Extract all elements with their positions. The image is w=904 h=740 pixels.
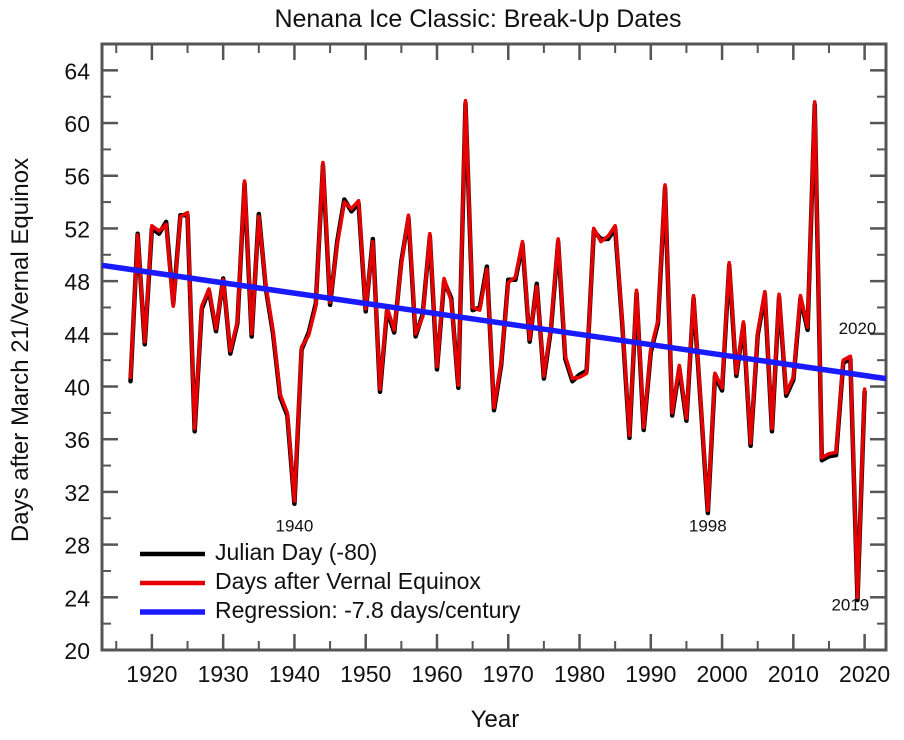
page-title: Nenana Ice Classic: Break-Up Dates xyxy=(274,5,681,33)
x-tick-label: 1930 xyxy=(198,661,249,687)
x-axis-title: Year xyxy=(471,706,520,733)
legend-label-days-after-vernal-equinox: Days after Vernal Equinox xyxy=(215,568,481,594)
x-tick-label: 1960 xyxy=(411,661,462,687)
y-tick-label: 52 xyxy=(64,216,90,242)
y-axis-title: Days after March 21/Vernal Equinox xyxy=(7,158,34,542)
x-tick-label: 1970 xyxy=(483,661,534,687)
x-tick-label: 2020 xyxy=(839,661,890,687)
y-tick-label: 44 xyxy=(64,322,90,348)
y-tick-label: 60 xyxy=(64,111,90,137)
annotation-label-2020: 2020 xyxy=(839,319,877,338)
chart-figure: Nenana Ice Classic: Break-Up Dates Days … xyxy=(0,0,904,740)
y-tick-label: 28 xyxy=(64,533,90,559)
nenana-ice-classic-line-chart: Nenana Ice Classic: Break-Up Dates Days … xyxy=(0,0,904,740)
legend-label-regression: Regression: -7.8 days/century xyxy=(215,597,521,623)
x-tick-label: 2000 xyxy=(696,661,747,687)
y-tick-label: 64 xyxy=(64,58,90,84)
annotation-label-1940: 1940 xyxy=(276,516,314,535)
y-tick-label: 56 xyxy=(64,164,90,190)
y-tick-label: 20 xyxy=(64,638,90,664)
x-tick-label: 1980 xyxy=(554,661,605,687)
y-tick-label: 36 xyxy=(64,427,90,453)
annotation-label-2019: 2019 xyxy=(831,595,869,614)
x-tick-label: 1990 xyxy=(625,661,676,687)
y-tick-label: 32 xyxy=(64,480,90,506)
x-tick-label: 2010 xyxy=(768,661,819,687)
x-tick-label: 1920 xyxy=(126,661,177,687)
x-tick-label: 1940 xyxy=(269,661,320,687)
annotation-label-1998: 1998 xyxy=(689,516,727,535)
legend-label-julian-day: Julian Day (-80) xyxy=(215,539,377,565)
x-tick-label: 1950 xyxy=(340,661,391,687)
y-tick-label: 48 xyxy=(64,269,90,295)
y-tick-label: 40 xyxy=(64,375,90,401)
y-tick-label: 24 xyxy=(64,585,90,611)
